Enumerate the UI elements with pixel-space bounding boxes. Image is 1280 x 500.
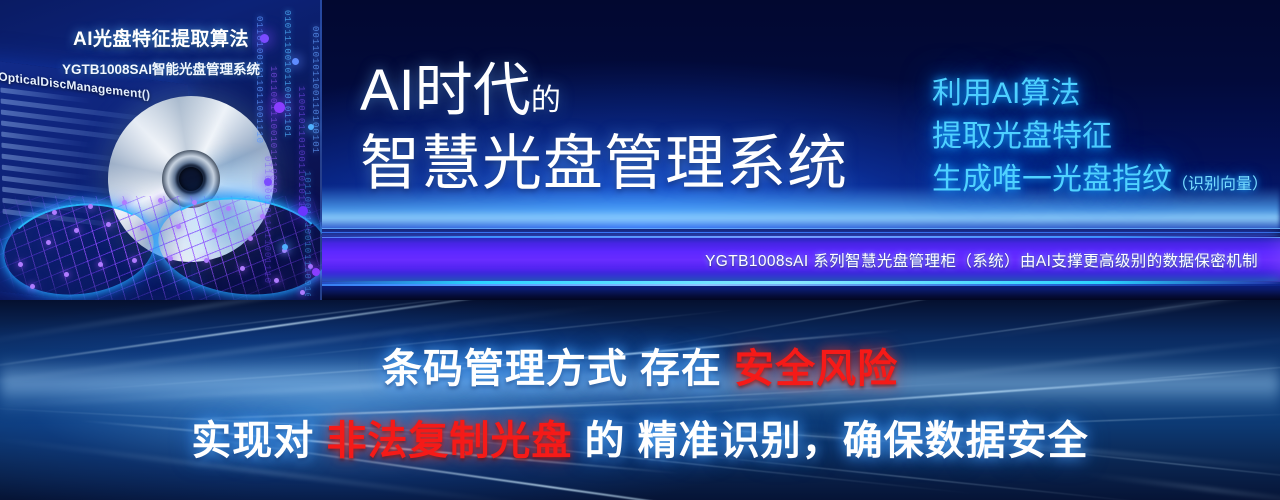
mesh-node <box>52 210 57 215</box>
subtitle-text: YGTB1008sAI 系列智慧光盘管理柜（系统）由AI支撑更高级别的数据保密机… <box>300 238 1280 282</box>
glow-dot <box>282 244 288 250</box>
feature-item-2: 提取光盘特征 <box>932 119 1268 155</box>
mesh-node <box>204 258 209 263</box>
mesh-node <box>46 240 51 245</box>
glow-dot <box>298 206 308 216</box>
feature-item-3: 生成唯一光盘指纹（识别向量） <box>932 162 1268 203</box>
product-panel-caption: AI光盘特征提取算法 YGTB1008SAI智能光盘管理系统 <box>0 24 322 78</box>
bottom-headline-1-text: 条码管理方式 存在 <box>382 347 734 391</box>
main-title-line-2: 智慧光盘管理系统 <box>360 134 880 194</box>
bottom-message-section: 条码管理方式 存在 安全风险 实现对 非法复制光盘 的 精准识别，确保数据安全 <box>0 300 1280 500</box>
background-streak <box>1081 472 1280 500</box>
bottom-headline-1-highlight: 安全风险 <box>734 347 898 391</box>
feature-item-2-label: 提取光盘特征 <box>932 120 1112 153</box>
mesh-node <box>64 272 69 277</box>
mesh-node <box>132 258 137 263</box>
mesh-node <box>158 198 163 203</box>
background-streak <box>982 300 1280 339</box>
product-panel-heading: AI光盘特征提取算法 <box>0 24 322 51</box>
glow-dot <box>264 178 272 186</box>
mesh-node <box>240 266 245 271</box>
glow-dot <box>274 102 285 113</box>
glow-dot <box>312 268 320 276</box>
feature-list: 利用AI算法 提取光盘特征 生成唯一光盘指纹（识别向量） <box>932 76 1268 210</box>
mesh-node <box>18 262 23 267</box>
mesh-node <box>122 200 127 205</box>
main-title-suffix: 的 <box>531 84 561 117</box>
main-title-line-1: AI时代的 <box>360 62 880 120</box>
bottom-headline-2-text-a: 实现对 <box>191 419 326 463</box>
mesh-node <box>106 222 111 227</box>
mesh-node <box>98 262 103 267</box>
mesh-node <box>88 204 93 209</box>
binary-stream: 10110011100101110010 <box>302 171 312 296</box>
feature-item-1: 利用AI算法 <box>932 76 1268 112</box>
mesh-node <box>74 228 79 233</box>
bottom-headline-2: 实现对 非法复制光盘 的 精准识别，确保数据安全 <box>0 408 1280 466</box>
top-banner-section: AI时代的 智慧光盘管理系统 利用AI算法 提取光盘特征 生成唯一光盘指纹（识别… <box>0 0 1280 300</box>
product-panel-subheading: YGTB1008SAI智能光盘管理系统 <box>0 58 322 78</box>
feature-item-3-label: 生成唯一光盘指纹 <box>932 163 1172 196</box>
main-title-block: AI时代的 智慧光盘管理系统 <box>360 62 880 194</box>
binary-stream: 01101001011011001110 <box>262 156 272 284</box>
glow-dot <box>308 124 314 130</box>
main-title-primary: AI时代 <box>360 58 531 123</box>
feature-item-1-label: 利用AI算法 <box>932 77 1080 110</box>
mesh-node <box>212 228 217 233</box>
bottom-headline-2-highlight: 非法复制光盘 <box>326 419 572 463</box>
product-image-panel: OpticalDiscManagement() { } <box>0 0 322 300</box>
bottom-headline-2-text-b: 的 精准识别，确保数据安全 <box>572 419 1088 463</box>
mesh-node <box>176 224 181 229</box>
bottom-text-block: 条码管理方式 存在 安全风险 实现对 非法复制光盘 的 精准识别，确保数据安全 <box>0 336 1280 466</box>
feature-item-3-note: （识别向量） <box>1172 176 1268 193</box>
promo-banner-page: AI时代的 智慧光盘管理系统 利用AI算法 提取光盘特征 生成唯一光盘指纹（识别… <box>0 0 1280 500</box>
mesh-node <box>192 200 197 205</box>
bottom-headline-1: 条码管理方式 存在 安全风险 <box>0 336 1280 394</box>
mesh-node <box>30 284 35 289</box>
mesh-node <box>226 206 231 211</box>
mesh-node <box>168 256 173 261</box>
mesh-node <box>140 226 145 231</box>
